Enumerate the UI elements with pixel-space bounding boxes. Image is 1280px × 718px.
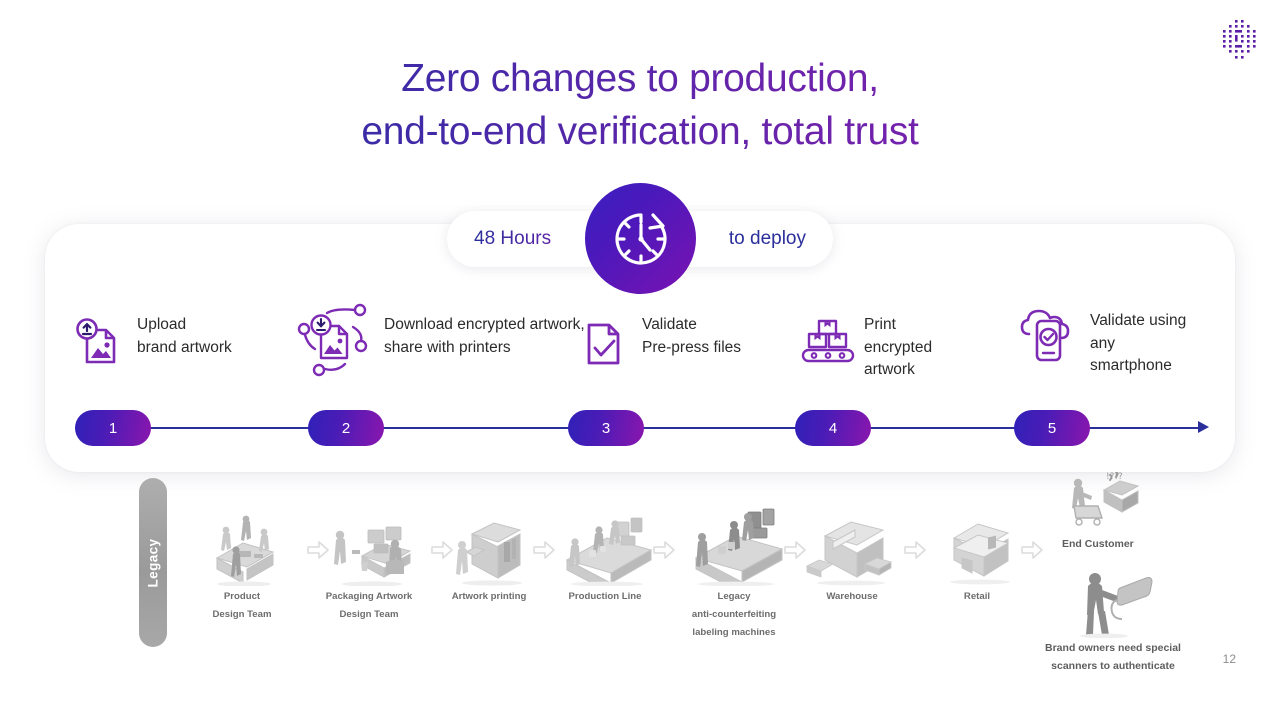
packaging-artwork-team-icon bbox=[324, 512, 414, 586]
legacy-stage-3-caption: Artwork printing bbox=[452, 591, 527, 602]
steps-row: Upload brand artwork bbox=[45, 298, 1235, 393]
page-title: Zero changes to production, end-to-end v… bbox=[0, 52, 1280, 158]
legacy-stage-5: Legacy anti-counterfeiting labeling mach… bbox=[670, 504, 798, 640]
timeline-node-2[interactable]: 2 bbox=[308, 410, 384, 446]
legacy-stage-4-caption: Production Line bbox=[568, 591, 641, 602]
legacy-stage-7-caption: Retail bbox=[964, 591, 990, 602]
end-customer-icon: !?!? bbox=[1052, 472, 1144, 530]
upload-artwork-icon bbox=[70, 312, 126, 368]
hours-label: 48 Hours bbox=[474, 228, 551, 250]
legacy-stage-1: Product Design Team bbox=[184, 514, 300, 622]
legacy-stage-1-caption: Product Design Team bbox=[212, 591, 271, 620]
product-design-team-icon bbox=[199, 514, 285, 586]
timeline-node-3[interactable]: 3 bbox=[568, 410, 644, 446]
legacy-flow: Product Design Team bbox=[180, 478, 1240, 668]
legacy-end-customer-caption: End Customer bbox=[1062, 538, 1178, 550]
svg-text:!?!?: !?!? bbox=[1106, 472, 1123, 482]
step-4[interactable]: Print encrypted artwork bbox=[797, 312, 932, 382]
step-5[interactable]: Validate using any smartphone bbox=[1017, 308, 1186, 378]
legacy-stage-6-caption: Warehouse bbox=[826, 591, 877, 602]
step-3[interactable]: Validate Pre-press files bbox=[575, 312, 741, 368]
legacy-label: Legacy bbox=[146, 538, 161, 587]
deploy-label: to deploy bbox=[729, 228, 806, 250]
warehouse-icon bbox=[803, 512, 901, 586]
production-line-icon bbox=[555, 512, 655, 586]
legacy-end-customer: !?!? End Customer bbox=[1028, 472, 1178, 550]
step-2[interactable]: Download encrypted artwork, share with p… bbox=[293, 298, 585, 382]
print-conveyor-icon bbox=[797, 312, 853, 368]
step-2-label: Download encrypted artwork, share with p… bbox=[384, 298, 585, 359]
artwork-printing-icon bbox=[446, 512, 532, 586]
title-line-1: Zero changes to production, bbox=[0, 52, 1280, 105]
process-timeline: 1 2 3 4 5 bbox=[45, 403, 1235, 455]
timeline-arrowhead-icon bbox=[1198, 421, 1209, 433]
cloud-smartphone-validate-icon bbox=[1017, 308, 1079, 364]
page-number: 12 bbox=[1223, 652, 1236, 666]
legacy-stage-6: Warehouse bbox=[792, 512, 912, 604]
legacy-stage-5-caption: Legacy anti-counterfeiting labeling mach… bbox=[692, 591, 776, 638]
timeline-node-5[interactable]: 5 bbox=[1014, 410, 1090, 446]
step-4-label: Print encrypted artwork bbox=[864, 312, 932, 382]
step-1-label: Upload brand artwork bbox=[137, 312, 232, 359]
step-5-label: Validate using any smartphone bbox=[1090, 308, 1186, 378]
timeline-node-4[interactable]: 4 bbox=[795, 410, 871, 446]
legacy-stage-2-caption: Packaging Artwork Design Team bbox=[326, 591, 413, 620]
title-line-2: end-to-end verification, total trust bbox=[0, 105, 1280, 158]
legacy-brand-owner-caption: Brand owners need special scanners to au… bbox=[1045, 642, 1181, 672]
legacy-brand-owner: Brand owners need special scanners to au… bbox=[998, 566, 1228, 674]
step-3-label: Validate Pre-press files bbox=[642, 312, 741, 359]
legacy-labeling-machines-icon bbox=[682, 504, 786, 586]
slide-root: Zero changes to production, end-to-end v… bbox=[0, 0, 1280, 718]
legacy-stage-4: Production Line bbox=[544, 512, 666, 604]
handheld-scanner-icon bbox=[1058, 566, 1168, 638]
timeline-node-1[interactable]: 1 bbox=[75, 410, 151, 446]
validate-document-icon bbox=[575, 312, 631, 368]
legacy-label-bar: Legacy bbox=[139, 478, 167, 647]
download-encrypted-artwork-icon bbox=[293, 298, 373, 382]
step-1[interactable]: Upload brand artwork bbox=[70, 312, 232, 368]
legacy-stage-2: Packaging Artwork Design Team bbox=[308, 512, 430, 622]
clock-refresh-icon bbox=[585, 183, 696, 294]
